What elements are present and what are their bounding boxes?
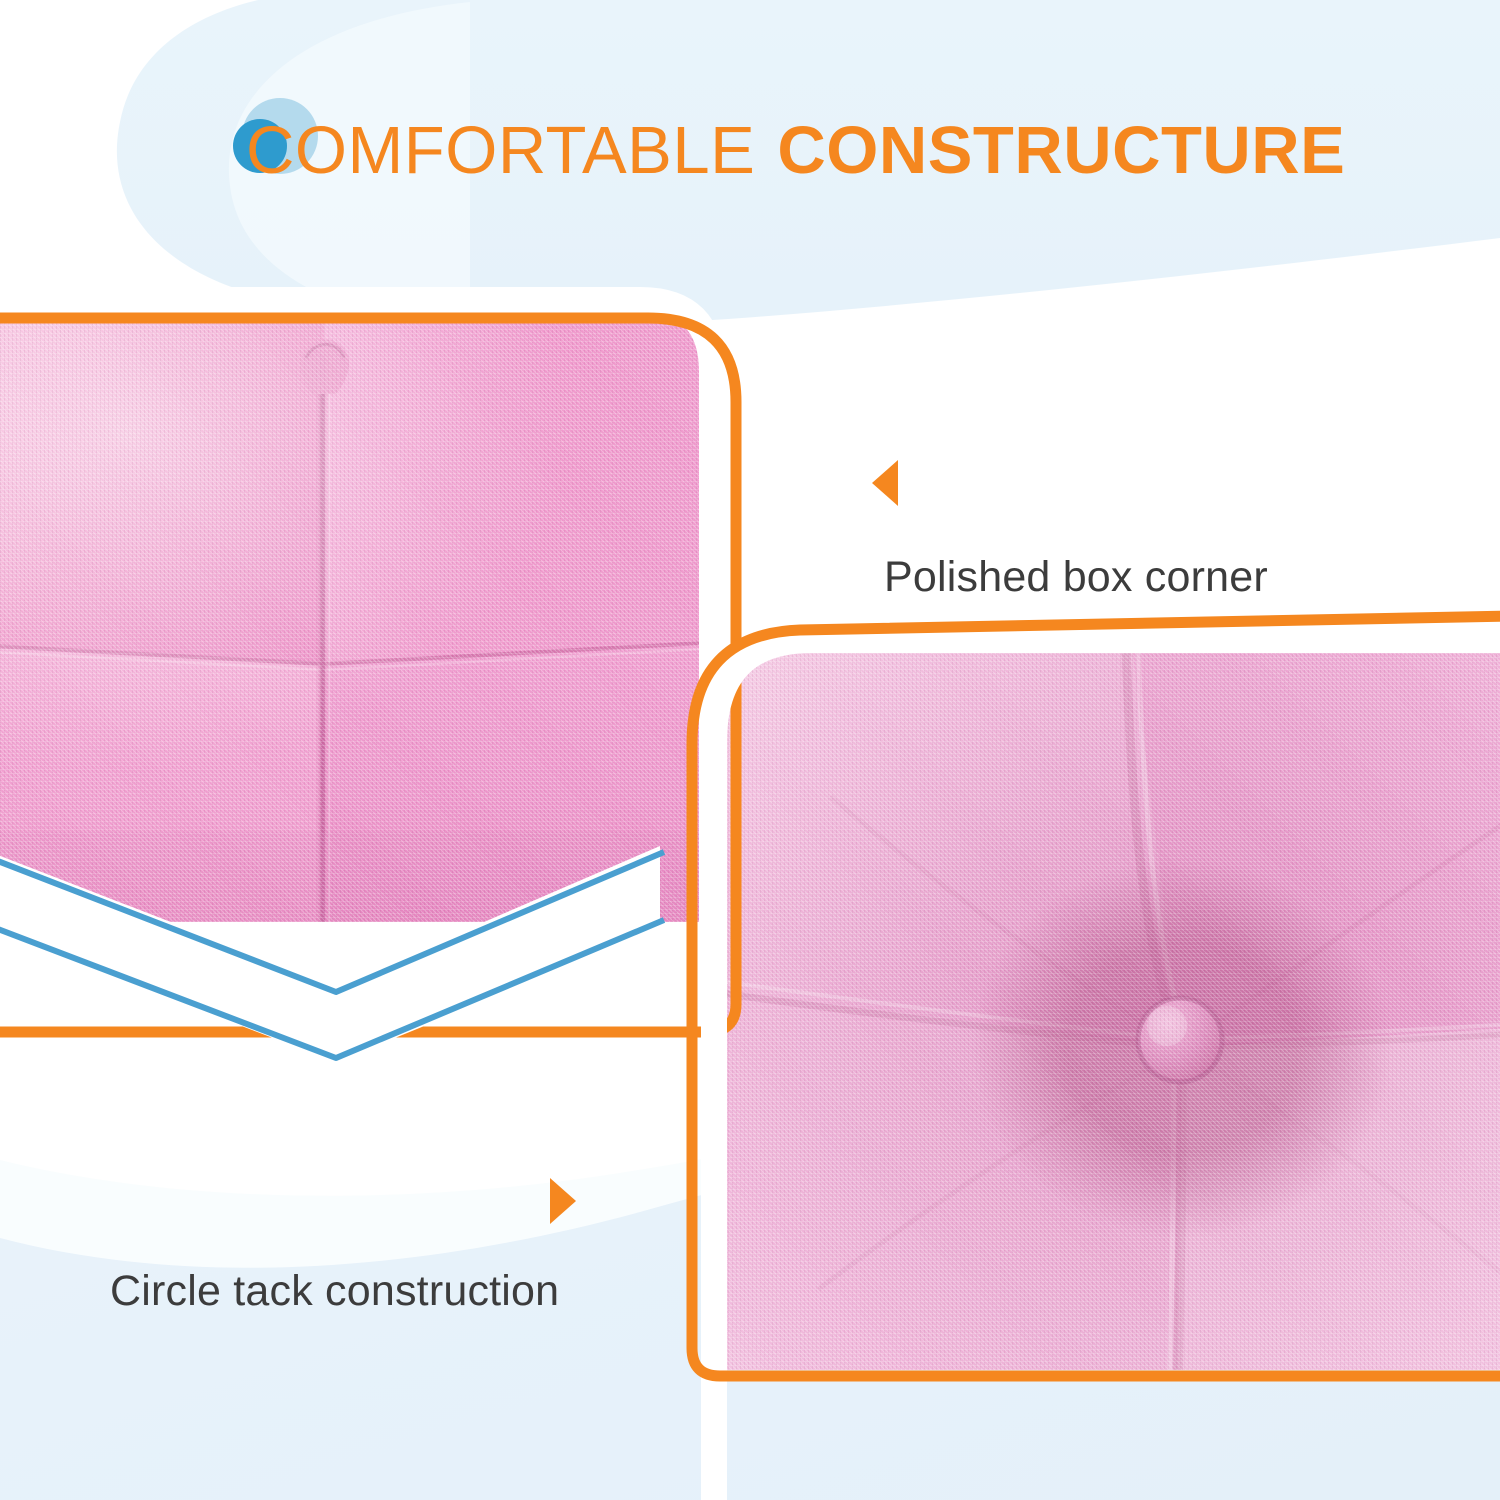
callout-label-circle-tack-construction: Circle tack construction (110, 1268, 576, 1315)
infographic-canvas: COMFORTABLE CONSTRUCTURE (0, 0, 1500, 1500)
circle-tack-button-photo (712, 648, 1500, 1370)
arrow-left-icon (872, 460, 898, 506)
page-title-bold: CONSTRUCTURE (777, 117, 1345, 184)
header: COMFORTABLE CONSTRUCTURE (0, 0, 1500, 330)
callout-polished-box-corner: Polished box corner (872, 460, 1268, 601)
cushion-box-corner-photo (0, 312, 720, 922)
fabric-weave-texture-fine (0, 312, 720, 922)
fabric-weave-texture-fine (712, 648, 1500, 1370)
page-title: COMFORTABLE CONSTRUCTURE (246, 104, 1466, 196)
callout-label-polished-box-corner: Polished box corner (884, 554, 1268, 601)
arrow-right-icon (550, 1178, 576, 1224)
callout-circle-tack-construction: Circle tack construction (110, 1178, 576, 1315)
page-title-light: COMFORTABLE (246, 117, 755, 184)
